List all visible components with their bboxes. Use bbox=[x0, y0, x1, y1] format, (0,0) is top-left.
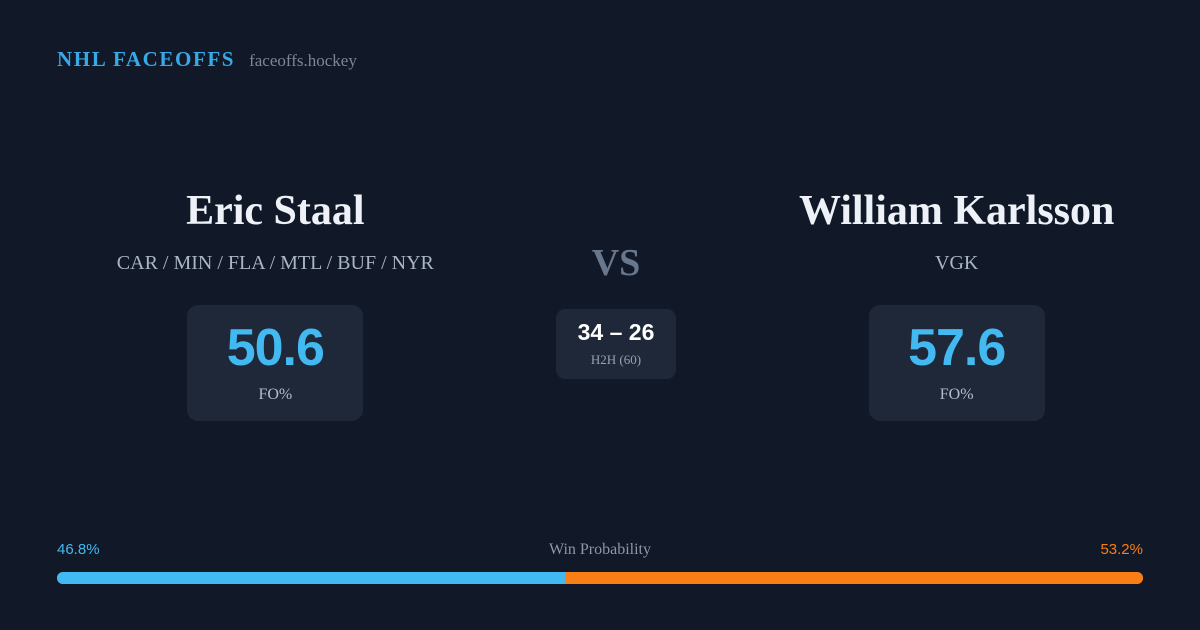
player-panel-right: William Karlsson VGK 57.6 FO% bbox=[713, 190, 1200, 421]
player-teams-right: VGK bbox=[935, 252, 978, 275]
brand-header: NHL FACEOFFS faceoffs.hockey bbox=[57, 47, 357, 72]
player-panel-left: Eric Staal CAR / MIN / FLA / MTL / BUF /… bbox=[32, 190, 519, 421]
player-teams-left: CAR / MIN / FLA / MTL / BUF / NYR bbox=[117, 252, 434, 275]
head-to-head-label: H2H (60) bbox=[591, 352, 641, 368]
stat-card-left: 50.6 FO% bbox=[187, 305, 363, 421]
faceoff-percent-label-right: FO% bbox=[940, 386, 974, 404]
win-probability-right-value: 53.2% bbox=[1100, 541, 1143, 558]
faceoff-percent-label-left: FO% bbox=[258, 386, 292, 404]
win-probability-bar-left-fill bbox=[57, 572, 565, 584]
faceoff-percent-right: 57.6 bbox=[908, 322, 1005, 374]
win-probability-labels: 46.8% Win Probability 53.2% bbox=[57, 541, 1143, 563]
win-probability-title: Win Probability bbox=[57, 541, 1143, 559]
versus-panel: VS 34 – 26 H2H (60) bbox=[519, 190, 714, 379]
win-probability-bar bbox=[57, 572, 1143, 584]
win-probability-bar-right-fill bbox=[565, 572, 1143, 584]
stat-card-right: 57.6 FO% bbox=[869, 305, 1045, 421]
win-probability-section: 46.8% Win Probability 53.2% bbox=[57, 541, 1143, 584]
versus-label: VS bbox=[592, 244, 641, 282]
head-to-head-record: 34 – 26 bbox=[578, 321, 655, 344]
matchup-section: Eric Staal CAR / MIN / FLA / MTL / BUF /… bbox=[0, 190, 1200, 421]
head-to-head-box: 34 – 26 H2H (60) bbox=[556, 309, 676, 379]
brand-name[interactable]: NHL FACEOFFS bbox=[57, 47, 235, 72]
player-name-left: Eric Staal bbox=[186, 190, 364, 232]
faceoff-percent-left: 50.6 bbox=[227, 322, 324, 374]
brand-domain: faceoffs.hockey bbox=[249, 51, 357, 71]
player-name-right: William Karlsson bbox=[799, 190, 1114, 232]
